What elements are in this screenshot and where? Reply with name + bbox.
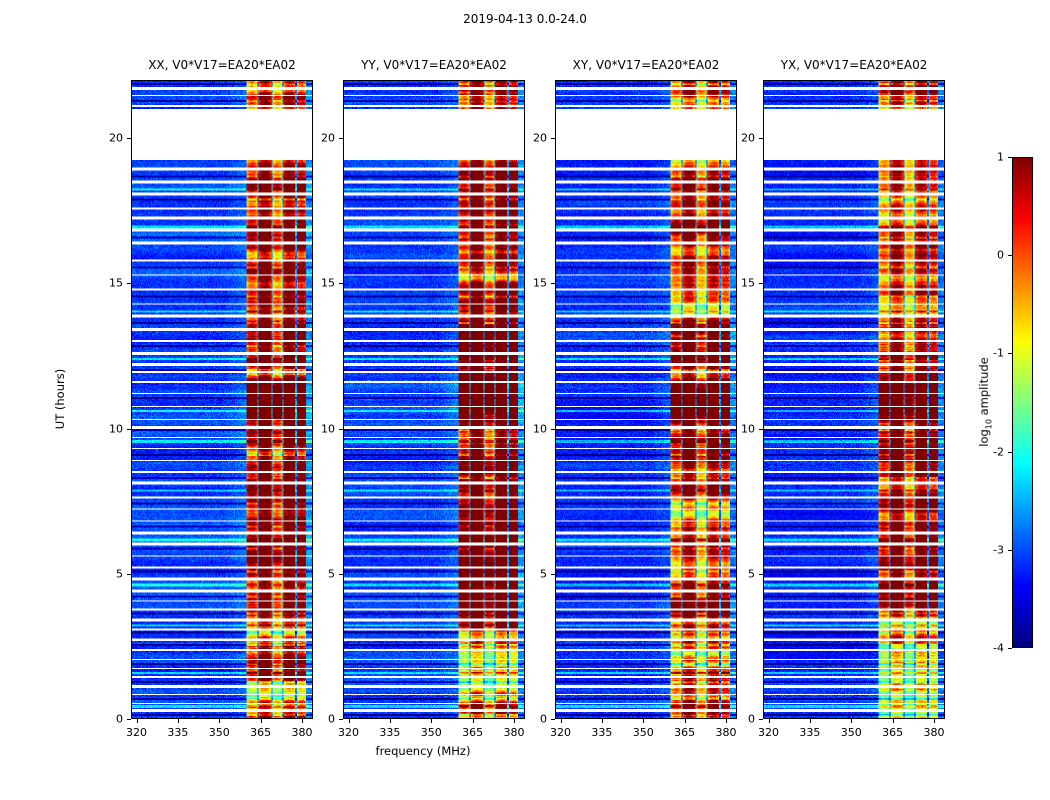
x-axis-tick: [302, 719, 303, 723]
y-axis-tick: [759, 283, 763, 284]
x-axis-tick-label: 380: [503, 726, 524, 739]
waterfall-figure: 2019-04-13 0.0-24.0 XX, V0*V17=EA20*EA02…: [0, 0, 1050, 800]
x-axis-tick: [769, 719, 770, 723]
x-axis-tick-label: 350: [209, 726, 230, 739]
x-axis-tick: [178, 719, 179, 723]
figure-suptitle: 2019-04-13 0.0-24.0: [0, 12, 1050, 26]
colorbar-label-prefix: log: [977, 429, 991, 447]
y-axis-tick-label: 10: [523, 422, 547, 435]
y-axis-tick: [551, 719, 555, 720]
y-axis-tick: [759, 719, 763, 720]
x-axis-tick: [810, 719, 811, 723]
colorbar-tick: [1008, 648, 1012, 649]
colorbar-tick-label: -2: [978, 445, 1004, 458]
x-axis-tick-label: 335: [799, 726, 820, 739]
y-axis-tick-label: 0: [731, 713, 755, 726]
x-axis-tick-label: 320: [338, 726, 359, 739]
y-axis-tick: [127, 138, 131, 139]
x-axis-tick-label: 320: [126, 726, 147, 739]
waterfall-panel-xy[interactable]: [555, 80, 737, 719]
x-axis-tick-label: 365: [462, 726, 483, 739]
y-axis-tick-label: 5: [523, 567, 547, 580]
x-axis-tick-label: 365: [882, 726, 903, 739]
waterfall-panel-xx[interactable]: [131, 80, 313, 719]
x-axis-tick-label: 350: [421, 726, 442, 739]
x-axis-tick: [726, 719, 727, 723]
y-axis-tick-label: 10: [731, 422, 755, 435]
x-axis-tick-label: 380: [923, 726, 944, 739]
x-axis-tick-label: 380: [715, 726, 736, 739]
y-axis-tick: [551, 138, 555, 139]
y-axis-tick: [127, 574, 131, 575]
y-axis-tick: [759, 138, 763, 139]
y-axis-tick: [759, 429, 763, 430]
x-axis-tick: [219, 719, 220, 723]
y-axis-tick-label: 5: [731, 567, 755, 580]
panel-title-xy: XY, V0*V17=EA20*EA02: [555, 58, 737, 72]
x-axis-tick: [261, 719, 262, 723]
y-axis-tick-label: 20: [731, 132, 755, 145]
y-axis-tick: [551, 574, 555, 575]
colorbar-label-subscript: 10: [984, 419, 993, 429]
y-axis-tick-label: 15: [99, 277, 123, 290]
x-axis-tick: [685, 719, 686, 723]
colorbar-tick-label: -4: [978, 642, 1004, 655]
x-axis-tick: [851, 719, 852, 723]
y-axis-tick-label: 0: [523, 713, 547, 726]
x-axis-tick: [893, 719, 894, 723]
y-axis-tick-label: 15: [731, 277, 755, 290]
panel-title-xx: XX, V0*V17=EA20*EA02: [131, 58, 313, 72]
colorbar-label-main: amplitude: [977, 357, 991, 415]
colorbar-tick-label: 1: [978, 151, 1004, 164]
y-axis-tick: [551, 283, 555, 284]
colorbar-label: log10 amplitude: [977, 357, 993, 447]
y-axis-tick-label: 10: [311, 422, 335, 435]
x-axis-tick-label: 335: [379, 726, 400, 739]
x-axis-tick: [561, 719, 562, 723]
y-axis-tick-label: 20: [523, 132, 547, 145]
y-axis-tick-label: 15: [311, 277, 335, 290]
y-axis-tick: [339, 574, 343, 575]
y-axis-tick-label: 20: [99, 132, 123, 145]
x-axis-tick: [514, 719, 515, 723]
x-axis-tick-label: 335: [167, 726, 188, 739]
y-axis-tick-label: 5: [311, 567, 335, 580]
panel-title-yx: YX, V0*V17=EA20*EA02: [763, 58, 945, 72]
x-axis-tick-label: 380: [291, 726, 312, 739]
x-axis-tick: [349, 719, 350, 723]
y-axis-label: UT (hours): [53, 369, 67, 429]
y-axis-tick: [551, 429, 555, 430]
x-axis-tick-label: 335: [591, 726, 612, 739]
y-axis-tick: [127, 719, 131, 720]
panel-title-yy: YY, V0*V17=EA20*EA02: [343, 58, 525, 72]
x-axis-tick: [934, 719, 935, 723]
colorbar-tick-label: -3: [978, 543, 1004, 556]
y-axis-tick: [339, 719, 343, 720]
x-axis-tick: [431, 719, 432, 723]
y-axis-tick-label: 5: [99, 567, 123, 580]
x-axis-tick: [602, 719, 603, 723]
waterfall-panel-yx[interactable]: [763, 80, 945, 719]
y-axis-tick: [759, 574, 763, 575]
waterfall-panel-yy[interactable]: [343, 80, 525, 719]
colorbar[interactable]: [1012, 157, 1033, 648]
x-axis-tick: [643, 719, 644, 723]
x-axis-tick: [473, 719, 474, 723]
x-axis-tick: [137, 719, 138, 723]
x-axis-tick-label: 365: [674, 726, 695, 739]
x-axis-tick-label: 365: [250, 726, 271, 739]
y-axis-tick-label: 10: [99, 422, 123, 435]
y-axis-tick: [127, 429, 131, 430]
y-axis-tick: [339, 429, 343, 430]
x-axis-tick: [390, 719, 391, 723]
x-axis-tick-label: 350: [633, 726, 654, 739]
colorbar-tick-label: 0: [978, 249, 1004, 262]
x-axis-tick-label: 350: [841, 726, 862, 739]
x-axis-label: frequency (MHz): [131, 744, 715, 758]
y-axis-tick-label: 0: [311, 713, 335, 726]
y-axis-tick: [127, 283, 131, 284]
y-axis-tick: [339, 138, 343, 139]
x-axis-tick-label: 320: [758, 726, 779, 739]
y-axis-tick-label: 0: [99, 713, 123, 726]
y-axis-tick-label: 15: [523, 277, 547, 290]
x-axis-tick-label: 320: [550, 726, 571, 739]
y-axis-tick-label: 20: [311, 132, 335, 145]
y-axis-tick: [339, 283, 343, 284]
